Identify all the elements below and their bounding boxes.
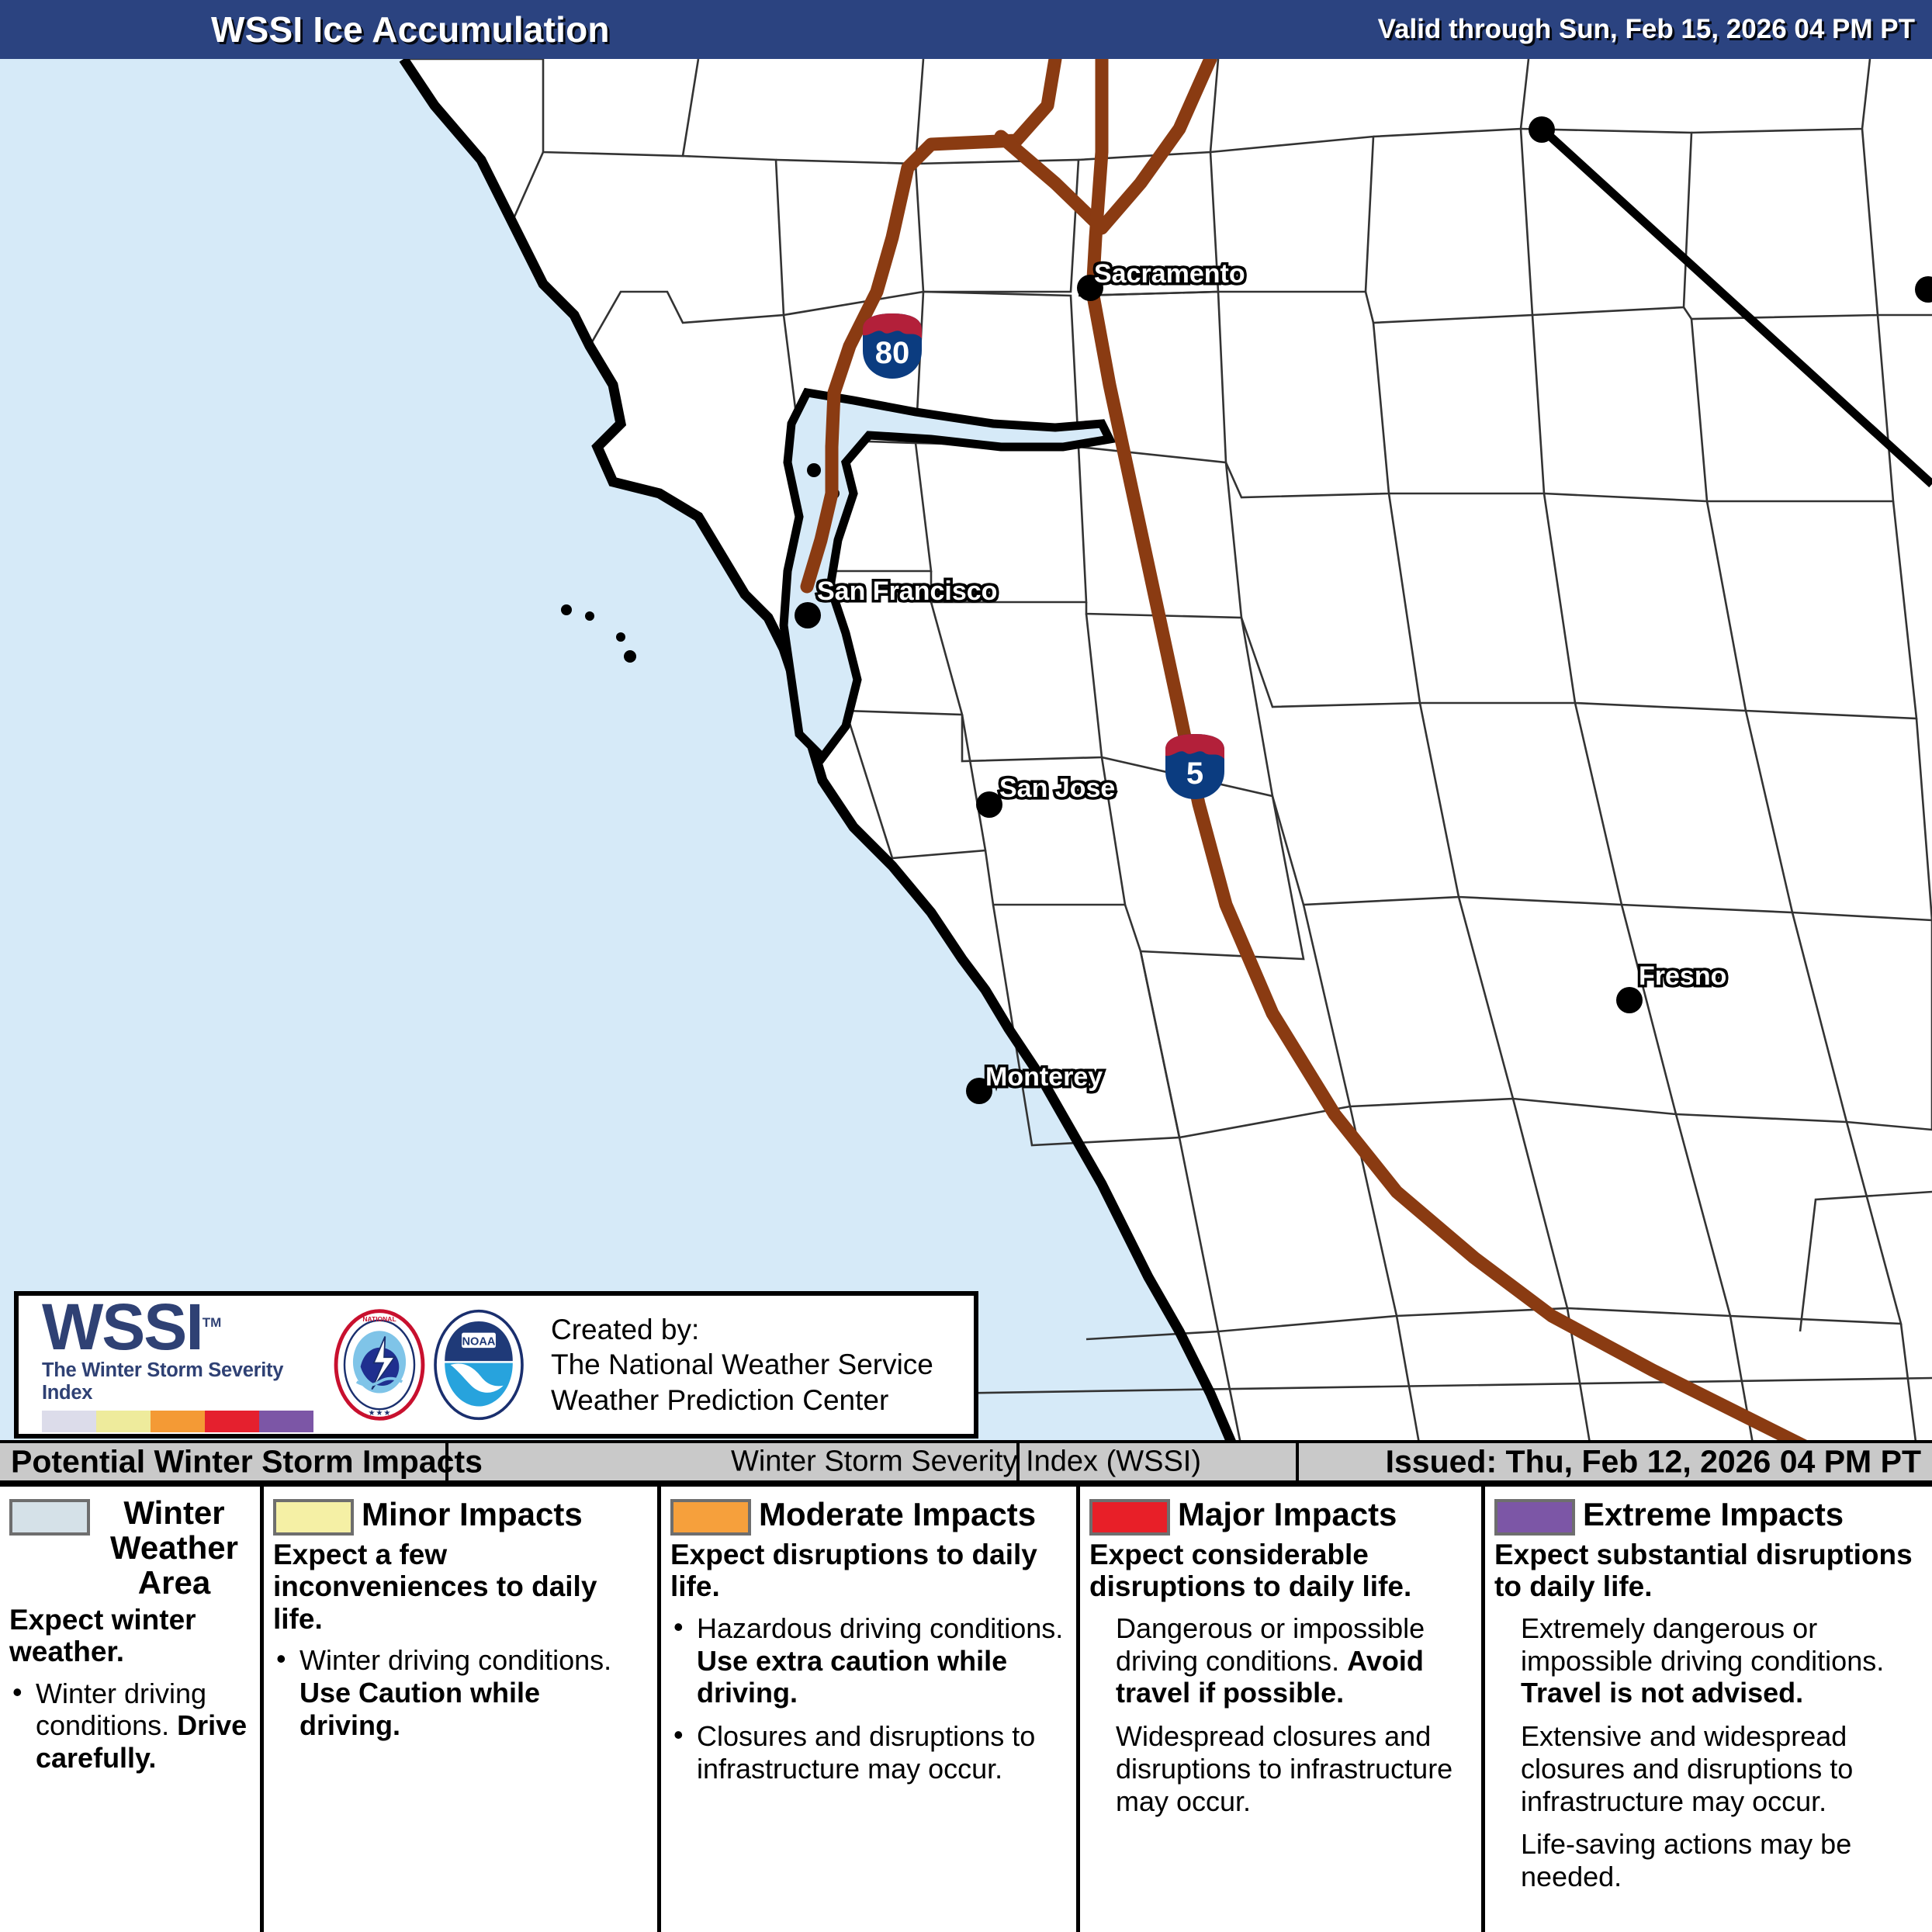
city-label-fresno: Fresno <box>1639 961 1726 992</box>
legend-title-minor-impacts: Minor Impacts <box>362 1496 648 1532</box>
status-bar-divider-3 <box>1296 1443 1299 1487</box>
legend-bullet: Dangerous or impossible driving conditio… <box>1089 1612 1472 1709</box>
wssi-wordmark-text: WSSI <box>42 1290 203 1363</box>
status-bar-center-label: Winter Storm Severity Index (WSSI) <box>731 1446 1201 1479</box>
status-bar-left-label: Potential Winter Storm Impacts <box>11 1444 483 1480</box>
svg-text:NOAA: NOAA <box>462 1335 496 1348</box>
legend-bullet: Extremely dangerous or impossible drivin… <box>1494 1612 1923 1709</box>
legend-column-minor-impacts[interactable]: Minor Impacts Expect a few inconvenience… <box>264 1487 661 1932</box>
status-bar-divider-2 <box>1016 1443 1020 1487</box>
legend-header: Major Impacts <box>1089 1496 1472 1536</box>
legend-swatch-major-impacts <box>1089 1499 1170 1536</box>
legend-bullet: Hazardous driving conditions. Use extra … <box>670 1612 1067 1709</box>
created-by-block: Created by: The National Weather Service… <box>537 1312 933 1417</box>
legend-column-moderate-impacts[interactable]: Moderate Impacts Expect disruptions to d… <box>661 1487 1080 1932</box>
legend-bullet: Extensive and widespread closures and di… <box>1494 1720 1923 1817</box>
legend-title-moderate-impacts: Moderate Impacts <box>759 1496 1067 1532</box>
legend-column-extreme-impacts[interactable]: Extreme Impacts Expect substantial disru… <box>1485 1487 1932 1932</box>
svg-text:★ ★ ★: ★ ★ ★ <box>369 1408 391 1416</box>
legend-bullets-minor-impacts: Winter driving conditions. Use Caution w… <box>273 1644 648 1741</box>
wssi-color-scale <box>42 1411 313 1432</box>
legend-intro-minor-impacts: Expect a few inconveniences to daily lif… <box>273 1539 648 1635</box>
legend-swatch-extreme-impacts <box>1494 1499 1575 1536</box>
bullet-normal-text: Extremely dangerous or impossible drivin… <box>1521 1612 1884 1677</box>
scale-swatch-major <box>205 1411 259 1432</box>
legend-bullet: Winter driving conditions. Use Caution w… <box>273 1644 648 1741</box>
interstate-shield-80: 80 <box>860 310 925 382</box>
legend-bullets-winter-weather-area: Winter driving conditions. Drive careful… <box>9 1678 251 1774</box>
svg-text:NATIONAL: NATIONAL <box>362 1315 396 1323</box>
status-bar: Potential Winter Storm Impacts Winter St… <box>0 1440 1932 1484</box>
city-label-san-jose: San Jose <box>999 774 1115 804</box>
legend-header: Winter Weather Area <box>9 1496 251 1601</box>
legend-bullet: Life-saving actions may be needed. <box>1494 1828 1923 1893</box>
legend-column-winter-weather-area[interactable]: Winter Weather Area Expect winter weathe… <box>0 1487 264 1932</box>
wssi-wordmark: WSSITM <box>42 1297 221 1357</box>
created-by-line-1: Created by: <box>551 1312 933 1347</box>
map-canvas[interactable]: 80 5 Sacramento San Francisco San Jose F… <box>0 59 1932 1448</box>
city-label-monterey: Monterey <box>985 1062 1103 1092</box>
bullet-bold-text: Use extra caution while driving. <box>697 1645 1007 1709</box>
legend-intro-extreme-impacts: Expect substantial disruptions to daily … <box>1494 1539 1923 1603</box>
legend-swatch-moderate-impacts <box>670 1499 751 1536</box>
bullet-normal-text: Closures and disruptions to infrastructu… <box>697 1720 1035 1785</box>
legend-title-major-impacts: Major Impacts <box>1178 1496 1472 1532</box>
status-bar-issued-label: Issued: Thu, Feb 12, 2026 04 PM PT <box>1386 1444 1921 1480</box>
scale-swatch-moderate <box>151 1411 205 1432</box>
legend-bullets-extreme-impacts: Extremely dangerous or impossible drivin… <box>1494 1612 1923 1893</box>
city-dot-san-jose <box>976 791 1002 818</box>
scale-swatch-extreme <box>259 1411 313 1432</box>
noaa-seal-icon: NOAA <box>431 1308 526 1421</box>
agency-seals: NATIONAL ★ ★ ★ NOAA <box>321 1308 537 1421</box>
scale-swatch-minor <box>96 1411 151 1432</box>
legend-header: Moderate Impacts <box>670 1496 1067 1536</box>
legend-intro-major-impacts: Expect considerable disruptions to daily… <box>1089 1539 1472 1603</box>
impact-legend: Winter Weather Area Expect winter weathe… <box>0 1484 1932 1932</box>
interstate-shield-5: 5 <box>1162 731 1227 802</box>
legend-title-extreme-impacts: Extreme Impacts <box>1583 1496 1923 1532</box>
wssi-map-page: WSSI Ice Accumulation Valid through Sun,… <box>0 0 1932 1932</box>
bullet-normal-text: Widespread closures and disruptions to i… <box>1116 1720 1452 1817</box>
created-by-line-3: Weather Prediction Center <box>551 1383 933 1418</box>
city-label-sacramento: Sacramento <box>1094 259 1245 289</box>
legend-column-major-impacts[interactable]: Major Impacts Expect considerable disrup… <box>1080 1487 1485 1932</box>
legend-swatch-minor-impacts <box>273 1499 354 1536</box>
legend-intro-winter-weather-area: Expect winter weather. <box>9 1604 251 1668</box>
legend-bullet: Winter driving conditions. Drive careful… <box>9 1678 251 1774</box>
scale-swatch-winter-weather <box>42 1411 96 1432</box>
bullet-normal-text: Hazardous driving conditions. <box>697 1612 1063 1644</box>
wssi-logo-box: WSSITM The Winter Storm Severity Index N… <box>14 1291 978 1439</box>
legend-swatch-winter-weather-area <box>9 1499 90 1536</box>
legend-header: Minor Impacts <box>273 1496 648 1536</box>
valid-through-label: Valid through Sun, Feb 15, 2026 04 PM PT <box>1378 14 1915 45</box>
wssi-subtitle: The Winter Storm Severity Index <box>42 1359 321 1404</box>
bullet-bold-text: Use Caution while driving. <box>299 1677 540 1741</box>
bullet-normal-text: Winter driving conditions. <box>299 1644 611 1676</box>
legend-bullets-major-impacts: Dangerous or impossible driving conditio… <box>1089 1612 1472 1818</box>
wssi-tm-mark: TM <box>203 1315 222 1330</box>
status-bar-divider-1 <box>445 1443 448 1487</box>
created-by-line-2: The National Weather Service <box>551 1347 933 1382</box>
nws-seal-icon: NATIONAL ★ ★ ★ <box>332 1308 427 1421</box>
legend-bullet: Widespread closures and disruptions to i… <box>1089 1720 1472 1817</box>
page-title: WSSI Ice Accumulation <box>211 9 610 50</box>
bullet-bold-text: Travel is not advised. <box>1521 1677 1803 1709</box>
legend-bullets-moderate-impacts: Hazardous driving conditions. Use extra … <box>670 1612 1067 1785</box>
legend-intro-moderate-impacts: Expect disruptions to daily life. <box>670 1539 1067 1603</box>
legend-bullet: Closures and disruptions to infrastructu… <box>670 1720 1067 1785</box>
page-header: WSSI Ice Accumulation Valid through Sun,… <box>0 0 1932 59</box>
svg-text:80: 80 <box>875 336 910 370</box>
legend-title-winter-weather-area: Winter Weather Area <box>98 1496 251 1601</box>
map-graphics <box>0 59 1932 1448</box>
bullet-normal-text: Extensive and widespread closures and di… <box>1521 1720 1853 1817</box>
city-label-san-francisco: San Francisco <box>817 576 997 607</box>
wssi-logo: WSSITM The Winter Storm Severity Index <box>19 1297 321 1432</box>
legend-header: Extreme Impacts <box>1494 1496 1923 1536</box>
svg-text:5: 5 <box>1186 757 1203 791</box>
bullet-normal-text: Life-saving actions may be needed. <box>1521 1828 1851 1892</box>
city-dot-unlabeled-north <box>1529 116 1555 143</box>
